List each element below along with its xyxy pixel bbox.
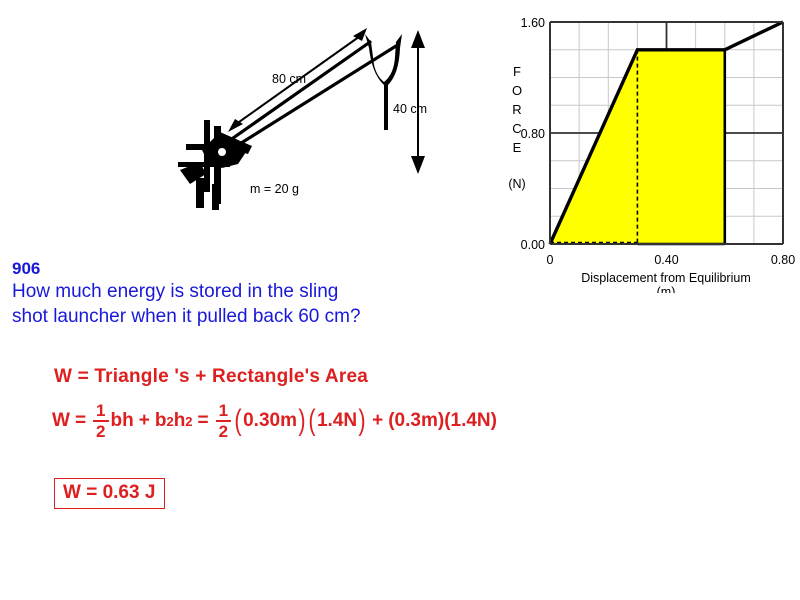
fraction-denominator-b: 2 [216,422,231,440]
knuckle-bar [178,162,230,167]
question-number: 906 [12,258,482,279]
wrist-1 [196,178,204,208]
paren-close-2: ) [359,409,366,432]
band-lower [230,46,396,150]
eq-plus-2: + [372,410,383,432]
solution-heading: W = Triangle 's + Rectangle's Area [54,366,652,388]
y-tick-label-0.00: 0.00 [521,238,545,252]
eq-value-force: 1.4N [317,410,357,432]
x-tick-label-0.80: 0.80 [771,253,795,267]
question-line-2: shot launcher when it pulled back 60 cm? [12,305,482,330]
x-tick-label-0.40: 0.40 [654,253,678,267]
fraction-numerator-a: 1 [93,402,108,420]
finger-1 [204,120,210,192]
eq-equals-1: = [75,410,86,432]
eq-b2: b [155,410,167,432]
force-displacement-chart: 1.60 0.80 0.00 0 0.40 0.80 F O R C E (N)… [495,8,795,293]
fraction-denominator-a: 2 [93,422,108,440]
y-axis-letter-f: F [513,64,521,79]
y-axis-letter-e: E [513,140,522,155]
slingshot-diagram: 80 cm 40 cm m = 20 g [160,12,460,227]
x-axis-unit: (m) [657,285,676,293]
solution-block: W = Triangle 's + Rectangle's Area W = 1… [52,366,652,440]
question-line-1: How much energy is stored in the sling [12,280,482,305]
y-axis-letter-r: R [512,102,521,117]
eq-h2: h [174,410,186,432]
eq-equals-2: = [198,410,209,432]
question-block: 906 How much energy is stored in the sli… [12,258,482,330]
solution-equation: W = 1 2 bh + b2h2 = 1 2 ( 0.30m ) ( 1.4N… [52,402,652,440]
fraction-numerator-b: 1 [216,402,231,420]
elastic-bands [226,42,396,150]
paren-open-1: ( [235,409,242,432]
rectangle-area-fill [637,50,724,244]
eq-b2-subscript: 2 [166,414,173,429]
y-axis-letter-o: O [512,83,522,98]
y-axis-unit: (N) [508,177,525,191]
answer-box: W = 0.63 J [54,478,165,509]
slingshot-illustration [160,12,460,227]
eq-rectangle-term: (0.3m)(1.4N) [388,410,497,432]
x-axis-title: Displacement from Equilibrium [581,271,751,285]
y-axis-letter-c: C [512,121,521,136]
x-tick-label-0: 0 [547,253,554,267]
eq-h2-subscript: 2 [185,414,192,429]
band-upper [226,42,370,143]
eq-w: W [52,410,70,432]
eq-plus-1: + [139,410,150,432]
wrist-2 [212,184,219,210]
projectile-highlight [218,148,226,156]
chart-svg: 1.60 0.80 0.00 0 0.40 0.80 F O R C E (N)… [495,8,795,293]
eq-value-displacement: 0.30m [243,410,297,432]
eq-bh: bh [111,410,134,432]
y-tick-label-0.80: 0.80 [521,127,545,141]
fraction-one-half-b: 1 2 [216,402,231,440]
fraction-one-half-a: 1 2 [93,402,108,440]
mass-label: m = 20 g [250,182,299,196]
fork-height-label: 40 cm [393,102,427,116]
paren-close-1: ) [298,409,305,432]
arrowhead-bottom-40 [411,156,425,174]
arrowhead-top-40 [411,30,425,48]
band-length-label: 80 cm [272,72,306,86]
y-tick-label-1.60: 1.60 [521,16,545,30]
paren-open-2: ( [308,409,315,432]
